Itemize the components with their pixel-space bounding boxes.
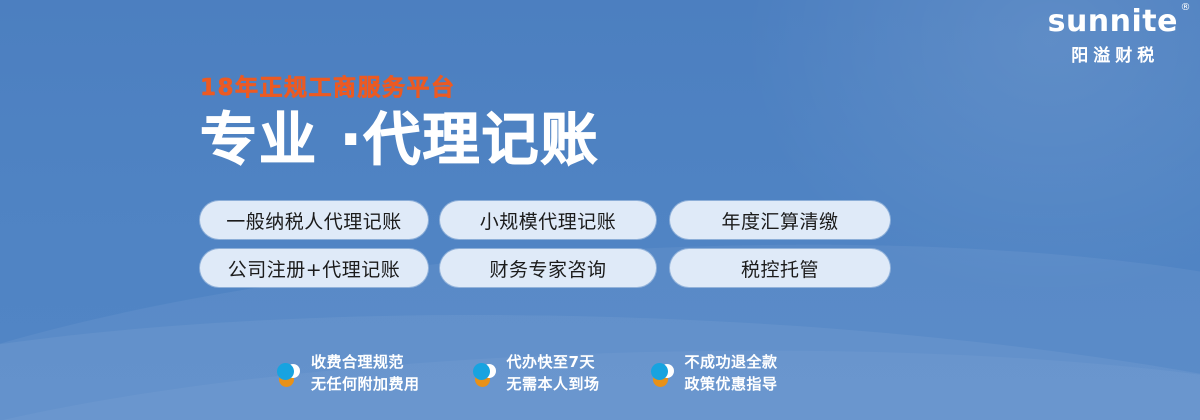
hero-headline-block: 18年正规工商服务平台 专业 ·代理记账 bbox=[200, 76, 600, 172]
feature-line-1: 不成功退全款 bbox=[685, 352, 778, 374]
feature-text-speed: 代办快至7天 无需本人到场 bbox=[507, 352, 600, 396]
service-pill-company-registration[interactable]: 公司注册+代理记账 bbox=[200, 249, 428, 287]
feature-text-pricing: 收费合理规范 无任何附加费用 bbox=[311, 352, 420, 396]
feature-item-guarantee: 不成功退全款 政策优惠指导 bbox=[650, 352, 778, 396]
dot-blue-shape bbox=[651, 363, 668, 380]
logo-wordmark: sunnite ® bbox=[1048, 6, 1178, 38]
promotional-banner: sunnite ® 阳溢财税 18年正规工商服务平台 专业 ·代理记账 一般纳税… bbox=[0, 0, 1200, 420]
feature-line-2: 无需本人到场 bbox=[507, 374, 600, 396]
registered-trademark-icon: ® bbox=[1181, 3, 1192, 13]
feature-text-guarantee: 不成功退全款 政策优惠指导 bbox=[685, 352, 778, 396]
feature-line-2: 无任何附加费用 bbox=[311, 374, 420, 396]
service-pill-general-taxpayer[interactable]: 一般纳税人代理记账 bbox=[200, 201, 428, 239]
logo-wordmark-text: sunnite bbox=[1048, 4, 1178, 39]
feature-item-speed: 代办快至7天 无需本人到场 bbox=[472, 352, 600, 396]
hero-eyebrow: 18年正规工商服务平台 bbox=[200, 76, 600, 101]
feature-list: 收费合理规范 无任何附加费用 代办快至7天 无需本人到场 不成功退全款 bbox=[276, 352, 778, 396]
dot-cluster-icon bbox=[472, 359, 498, 389]
service-pill-row-1: 一般纳税人代理记账 小规模代理记账 年度汇算清缴 bbox=[200, 201, 890, 239]
dot-blue-shape bbox=[473, 363, 490, 380]
feature-line-2: 政策优惠指导 bbox=[685, 374, 778, 396]
service-pill-expert-consulting[interactable]: 财务专家咨询 bbox=[440, 249, 656, 287]
feature-line-1: 收费合理规范 bbox=[311, 352, 420, 374]
feature-item-pricing: 收费合理规范 无任何附加费用 bbox=[276, 352, 420, 396]
service-pill-tax-control-hosting[interactable]: 税控托管 bbox=[670, 249, 890, 287]
service-pill-row-2: 公司注册+代理记账 财务专家咨询 税控托管 bbox=[200, 249, 890, 287]
service-pill-group: 一般纳税人代理记账 小规模代理记账 年度汇算清缴 公司注册+代理记账 财务专家咨… bbox=[200, 201, 890, 287]
service-pill-small-scale[interactable]: 小规模代理记账 bbox=[440, 201, 656, 239]
feature-line-1: 代办快至7天 bbox=[507, 352, 600, 374]
logo-chinese-name: 阳溢财税 bbox=[1048, 41, 1178, 66]
dot-blue-shape bbox=[277, 363, 294, 380]
background-wave-middle bbox=[0, 281, 1200, 420]
brand-logo[interactable]: sunnite ® 阳溢财税 bbox=[1048, 6, 1178, 66]
dot-cluster-icon bbox=[650, 359, 676, 389]
hero-title: 专业 ·代理记账 bbox=[200, 110, 600, 172]
dot-cluster-icon bbox=[276, 359, 302, 389]
service-pill-annual-settlement[interactable]: 年度汇算清缴 bbox=[670, 201, 890, 239]
